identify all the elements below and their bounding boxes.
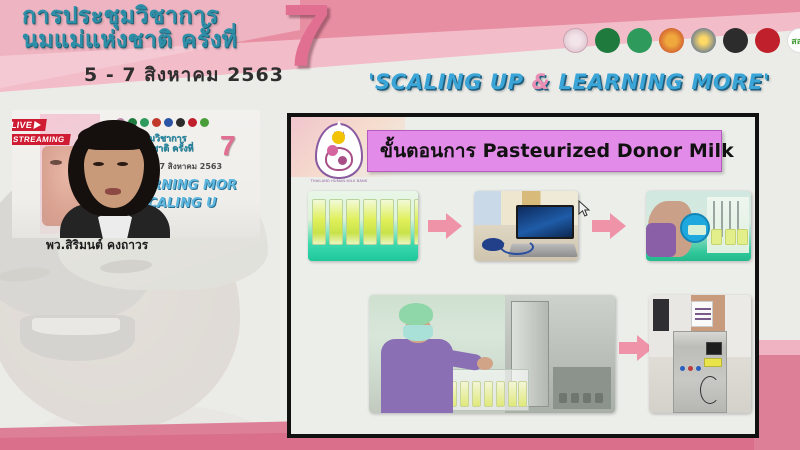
step-photo-timer-temperature-check xyxy=(646,191,751,261)
tagline-prefix: 'SCALING UP xyxy=(368,70,532,94)
logo-royal-patronage xyxy=(563,28,588,53)
tagline-suffix: LEARNING MORE' xyxy=(550,70,770,94)
conference-title: การประชุมวิชาการ นมแม่แห่งชาติ ครั้งที่ xyxy=(22,4,292,54)
conference-tagline: 'SCALING UP & LEARNING MORE' xyxy=(368,70,770,94)
logo-royal-thai-government xyxy=(691,28,716,53)
logo-ministry-of-public-health xyxy=(627,28,652,53)
step-arrow-3 xyxy=(619,335,653,361)
logo-thai-breastfeeding-centre xyxy=(595,28,620,53)
sponsor-logo-row: สสส xyxy=(563,28,800,53)
logo-bangkok-metropolitan xyxy=(659,28,684,53)
conference-edition-number: 7 xyxy=(282,0,331,80)
backdrop-edition-number: 7 xyxy=(220,132,236,160)
logo-national-health-security xyxy=(723,28,748,53)
logo-nhso-red xyxy=(755,28,780,53)
step-photo-milk-record-computer-station xyxy=(474,191,578,261)
live-label: LIVE xyxy=(12,120,33,130)
step-photo-pasteurizer-machine xyxy=(649,295,751,413)
conference-title-line2: นมแม่แห่งชาติ ครั้งที่ xyxy=(22,28,292,54)
step-photo-collected-donor-milk-bottles xyxy=(308,191,418,261)
milk-logo-caption: THAILAND HUMAN MILK BANK xyxy=(307,179,371,183)
play-icon xyxy=(34,121,42,129)
slide-title: ขั้นตอนการ Pasteurized Donor Milk xyxy=(368,136,734,166)
live-badge: LIVE xyxy=(12,119,47,131)
presenter-figure xyxy=(60,120,170,238)
step-arrow-1 xyxy=(428,213,462,239)
step-photo-nurse-loading-pasteurizer xyxy=(369,295,615,413)
slide-title-bar: ขั้นตอนการ Pasteurized Donor Milk xyxy=(367,130,722,172)
right-pink-panel xyxy=(754,355,800,450)
conference-title-line1: การประชุมวิชาการ xyxy=(22,3,219,29)
live-stream-video-thumbnail[interactable]: การประชุมวิชาการ นมแม่แห่งชาติ ครั้งที่ … xyxy=(12,110,260,238)
tagline-ampersand: & xyxy=(532,70,551,94)
presentation-screen: การประชุมวิชาการ นมแม่แห่งชาติ ครั้งที่ … xyxy=(0,0,800,450)
speaker-name: พว.สิริมนต์ คงถาวร xyxy=(46,236,148,255)
logo-thaihealth-sss: สสส xyxy=(787,28,800,53)
conference-date: 5 - 7 สิงหาคม 2563 xyxy=(84,60,284,90)
human-milk-bank-drop-logo: THAILAND HUMAN MILK BANK xyxy=(307,123,371,187)
step-arrow-2 xyxy=(592,213,626,239)
streaming-label: STREAMING xyxy=(12,134,70,145)
slide-panel: THAILAND HUMAN MILK BANK ขั้นตอนการ Past… xyxy=(287,113,759,438)
